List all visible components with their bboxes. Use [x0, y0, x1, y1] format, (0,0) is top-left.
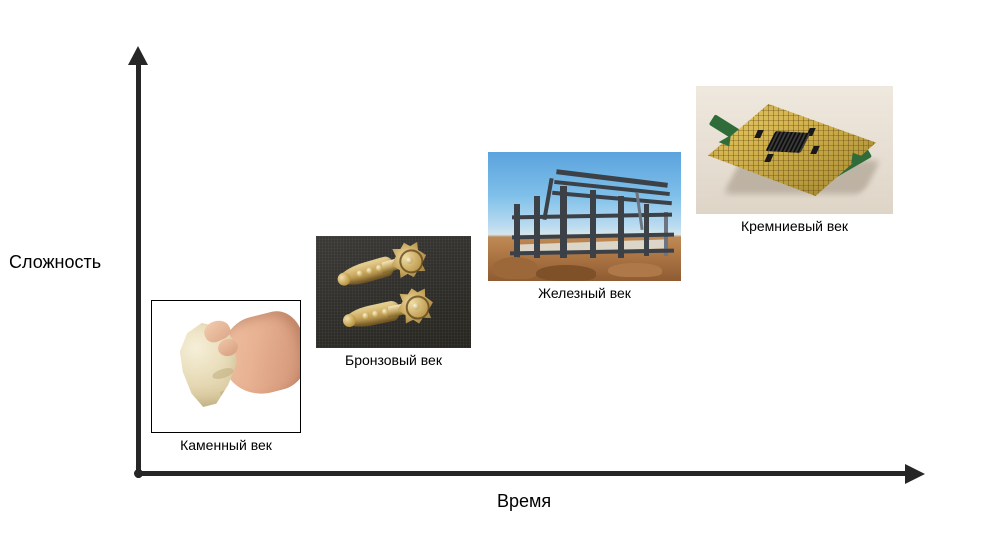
- x-axis-label: Время: [497, 491, 551, 513]
- y-axis-shaft: [136, 60, 141, 478]
- bronze-brooch-shape: [342, 287, 433, 336]
- steel-column: [590, 190, 596, 258]
- stone-texture-mark: [219, 389, 236, 399]
- bronze-age-image: [316, 236, 471, 348]
- steel-column: [514, 204, 520, 258]
- stage-item-bronze: Бронзовый век: [316, 236, 471, 368]
- y-axis-arrowhead-icon: [128, 46, 148, 65]
- y-axis-label: Сложность: [9, 252, 101, 274]
- soil-mound: [492, 257, 538, 279]
- soil-mound: [536, 265, 596, 281]
- iron-age-image: [488, 152, 681, 281]
- bronze-age-caption: Бронзовый век: [316, 352, 471, 368]
- x-axis-arrowhead-icon: [905, 464, 925, 484]
- iron-age-caption: Железный век: [488, 285, 681, 301]
- silicon-age-caption: Кремниевый век: [696, 218, 893, 234]
- stage-item-silicon: Кремниевый век: [696, 86, 893, 234]
- stage-item-iron: Железный век: [488, 152, 681, 301]
- axis-origin-dot: [134, 469, 143, 478]
- soil-mound: [608, 263, 662, 277]
- stone-age-caption: Каменный век: [151, 437, 301, 453]
- stone-texture-mark: [206, 406, 233, 417]
- x-axis-shaft: [136, 471, 908, 476]
- diagram-canvas: Сложность Время Каменный век: [0, 0, 991, 537]
- silicon-age-image: [696, 86, 893, 214]
- steel-column: [534, 196, 540, 258]
- stage-item-stone: Каменный век: [151, 300, 301, 453]
- bronze-brooch-shape: [335, 241, 426, 295]
- stone-age-image: [151, 300, 301, 433]
- steel-column: [560, 186, 567, 258]
